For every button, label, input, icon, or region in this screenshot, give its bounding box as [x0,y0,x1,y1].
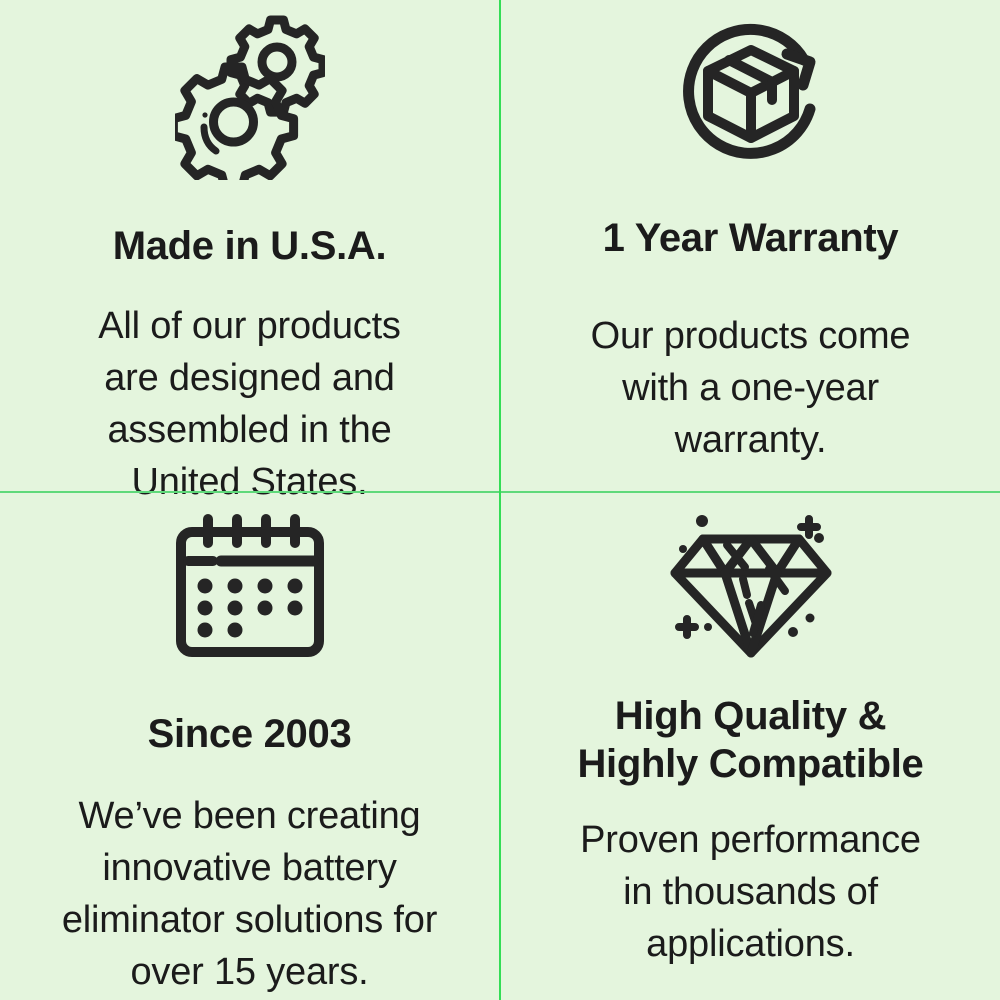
calendar-icon [175,513,325,658]
card-title: 1 Year Warranty [603,214,899,262]
feature-card-made-in-usa: Made in U.S.A. All of our products are d… [0,0,499,491]
feature-grid: Made in U.S.A. All of our products are d… [0,0,1000,1000]
box-return-warranty-icon [671,12,831,172]
card-body: Our products come with a one-year warran… [551,310,951,466]
card-title: Since 2003 [148,710,352,758]
feature-card-high-quality: High Quality & Highly Compatible Proven … [501,493,1000,1000]
gears-icon [175,10,325,180]
card-title: High Quality & Highly Compatible [577,692,923,788]
feature-card-warranty: 1 Year Warranty Our products come with a… [501,0,1000,491]
card-body: We’ve been creating innovative battery e… [35,790,465,998]
diamond-sparkle-icon [665,507,837,662]
divider-vertical [499,0,501,1000]
card-body: All of our products are designed and ass… [60,300,440,508]
card-title: Made in U.S.A. [113,222,387,270]
feature-card-since-2003: Since 2003 We’ve been creating innovativ… [0,493,499,1000]
card-body: Proven performance in thousands of appli… [551,814,951,970]
